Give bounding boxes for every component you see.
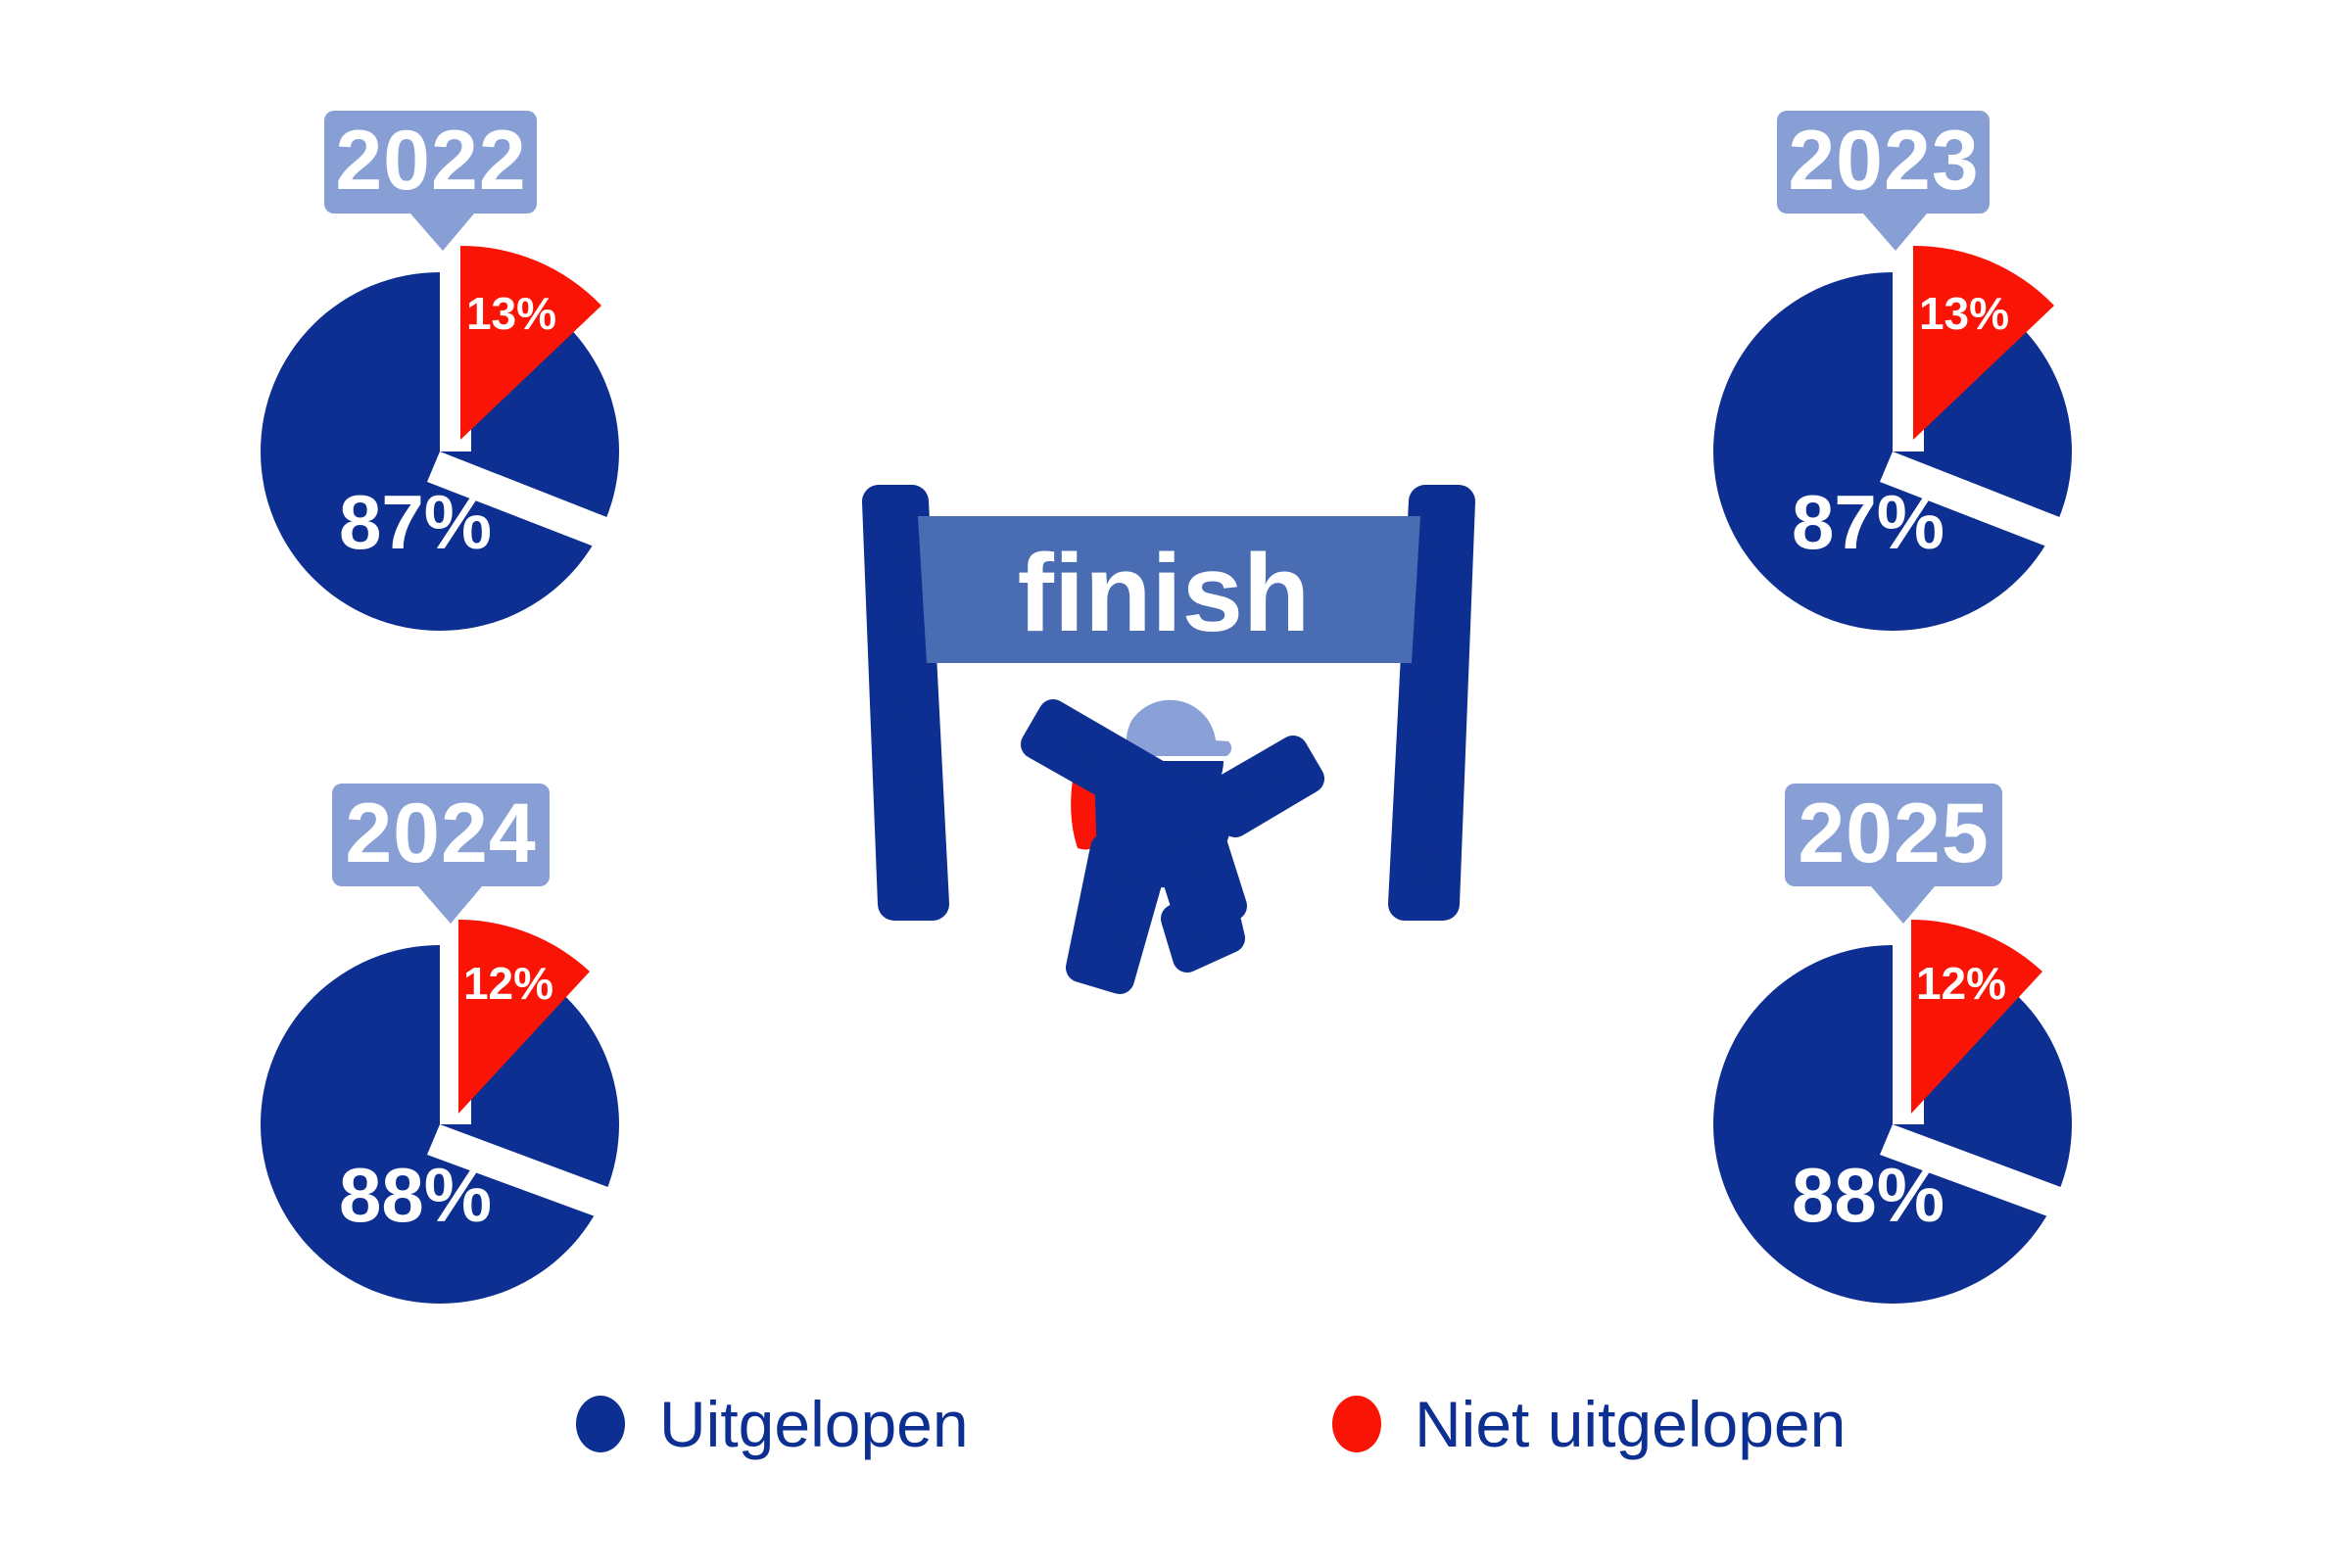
year-label-2025: 2025 [1798,786,1989,880]
pct-finished-2022: 87% [339,479,492,565]
pct-not-finished-2024: 12% [463,958,553,1009]
year-label-2024: 2024 [345,786,536,880]
year-label-2022: 2022 [335,114,526,208]
runner-leg-left [1080,848,1148,979]
legend-label-uitgelopen: Uitgelopen [659,1388,969,1460]
infographic-canvas: 87% 13% 2022 87% 13% 2023 88% 1 [0,0,2352,1568]
pct-not-finished-2023: 13% [1919,288,2009,339]
pct-not-finished-2025: 12% [1916,958,2006,1009]
runner-leg-right-lower [1176,896,1230,958]
pct-finished-2023: 87% [1792,479,1944,565]
legend-label-niet-uitgelopen: Niet uitgelopen [1415,1388,1846,1460]
legend-marker-circle-red [1332,1396,1381,1452]
legend-marker-circle-blue [576,1396,625,1452]
pct-not-finished-2022: 13% [466,288,556,339]
finish-banner-text: finish [1018,532,1311,654]
pct-finished-2024: 88% [339,1152,492,1238]
pct-finished-2025: 88% [1792,1152,1944,1238]
year-label-2023: 2023 [1788,114,1979,208]
